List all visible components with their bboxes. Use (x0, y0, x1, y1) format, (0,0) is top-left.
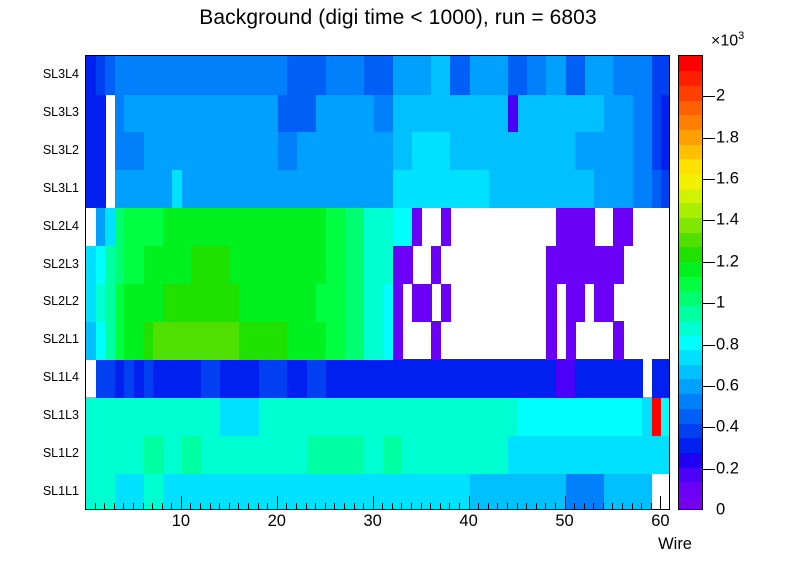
colorbar-tick (703, 303, 715, 304)
x-axis-labels: 102030405060 (0, 512, 796, 534)
heatmap-cell (604, 284, 614, 323)
y-axis-tick-label: SL3L3 (43, 105, 79, 119)
x-axis-tick-label: 10 (172, 512, 190, 531)
x-axis-tick (296, 503, 297, 510)
x-axis-tick (632, 503, 633, 510)
heatmap-cell (566, 321, 576, 360)
colorbar-band (679, 379, 702, 394)
x-axis-tick (181, 496, 182, 510)
colorbar-band (679, 350, 702, 365)
y-axis-tick-label: SL3L2 (43, 143, 79, 157)
heatmap-cell (393, 321, 403, 360)
colorbar-tick-label: 1.8 (716, 128, 739, 147)
y-axis-tick-label: SL2L1 (43, 332, 79, 346)
x-axis-tick (190, 503, 191, 510)
x-axis-tick (200, 503, 201, 510)
heatmap-cell (441, 284, 451, 323)
colorbar-tick (703, 262, 715, 263)
x-axis-tick (123, 503, 124, 510)
y-axis-tick-label: SL3L1 (43, 181, 79, 195)
colorbar-tick (703, 427, 715, 428)
x-axis-tick (401, 503, 402, 510)
x-axis-tick (449, 503, 450, 510)
heatmap-cell (633, 359, 643, 398)
colorbar-band (679, 482, 702, 497)
x-axis-tick (248, 503, 249, 510)
colorbar-ticks (703, 55, 715, 510)
x-axis-tick-label: 50 (555, 512, 573, 531)
x-axis-tick (488, 503, 489, 510)
heatmap-cell (441, 208, 451, 247)
x-axis-tick (497, 503, 498, 510)
x-axis-tick (651, 503, 652, 510)
x-axis-tick (306, 503, 307, 510)
colorbar-tick-label: 0 (716, 501, 725, 520)
x-axis-tick (210, 503, 211, 510)
x-axis-tick (238, 503, 239, 510)
x-axis-tick (162, 503, 163, 510)
x-axis-tick (612, 503, 613, 510)
y-axis-tick-label: SL2L3 (43, 257, 79, 271)
heatmap-cell (546, 284, 556, 323)
x-axis-tick (392, 503, 393, 510)
heatmap-cell (96, 94, 106, 133)
colorbar[interactable] (678, 55, 703, 510)
colorbar-tick (703, 96, 715, 97)
heatmap-cell (661, 435, 670, 474)
y-axis-labels: SL1L1SL1L2SL1L3SL1L4SL2L1SL2L2SL2L3SL2L4… (0, 55, 79, 510)
x-axis-tick (334, 503, 335, 510)
x-axis-tick (373, 496, 374, 510)
x-axis-tick (459, 503, 460, 510)
x-axis-tick (104, 503, 105, 510)
colorbar-band (679, 496, 702, 510)
x-axis-tick (363, 503, 364, 510)
colorbar-band (679, 85, 702, 100)
x-axis-tick (565, 496, 566, 510)
x-axis-ticks (85, 496, 671, 510)
x-axis-tick (526, 503, 527, 510)
colorbar-band (679, 159, 702, 174)
colorbar-tick-label: 0.4 (716, 418, 739, 437)
x-axis-tick (258, 503, 259, 510)
colorbar-tick-labels: 00.20.40.60.811.21.41.61.82 (716, 55, 796, 517)
x-axis-tick (622, 503, 623, 510)
colorbar-band (679, 276, 702, 291)
x-axis-tick-label: 60 (651, 512, 669, 531)
x-axis-tick (229, 503, 230, 510)
heatmap-canvas: Background (digi time < 1000), run = 680… (0, 0, 796, 572)
colorbar-band (679, 56, 702, 71)
x-axis-tick (430, 503, 431, 510)
heatmap-cell (431, 321, 441, 360)
x-axis-tick (593, 503, 594, 510)
colorbar-band (679, 144, 702, 159)
colorbar-band (679, 438, 702, 453)
colorbar-band (679, 452, 702, 467)
x-axis-tick (421, 503, 422, 510)
heatmap-cells (86, 56, 669, 509)
heatmap-cell (661, 359, 670, 398)
x-axis-tick-label: 40 (459, 512, 477, 531)
colorbar-band (679, 71, 702, 86)
x-axis-tick (344, 503, 345, 510)
colorbar-band (679, 320, 702, 335)
colorbar-tick-label: 0.2 (716, 459, 739, 478)
x-axis-tick (584, 503, 585, 510)
heatmap-cell (613, 321, 623, 360)
colorbar-tick-label: 0.6 (716, 376, 739, 395)
x-axis-tick (286, 503, 287, 510)
colorbar-tick (703, 179, 715, 180)
colorbar-band (679, 100, 702, 115)
colorbar-tick-label: 1.2 (716, 252, 739, 271)
x-axis-tick (574, 503, 575, 510)
x-axis-tick (660, 496, 661, 510)
colorbar-band (679, 467, 702, 482)
x-axis-tick (114, 503, 115, 510)
colorbar-tick (703, 386, 715, 387)
heatmap-cell (412, 208, 422, 247)
colorbar-band (679, 115, 702, 130)
colorbar-band (679, 129, 702, 144)
y-axis-tick-label: SL1L2 (43, 446, 79, 460)
x-axis-tick (267, 503, 268, 510)
x-axis-tick (95, 503, 96, 510)
colorbar-band (679, 364, 702, 379)
colorbar-tick-label: 2 (716, 87, 725, 106)
heatmap-cell (661, 94, 670, 133)
heatmap-plot-area[interactable] (85, 55, 670, 510)
heatmap-cell (431, 246, 441, 285)
x-axis-tick (354, 503, 355, 510)
colorbar-tick (703, 138, 715, 139)
x-axis-tick (171, 503, 172, 510)
y-axis-tick-label: SL1L1 (43, 484, 79, 498)
x-axis-title: Wire (0, 535, 692, 554)
colorbar-tick-label: 1.6 (716, 170, 739, 189)
y-axis-tick-label: SL1L3 (43, 408, 79, 422)
x-axis-tick (603, 503, 604, 510)
x-axis-tick (315, 503, 316, 510)
heatmap-cell (96, 170, 106, 209)
heatmap-cell (661, 397, 670, 436)
x-axis-tick (152, 503, 153, 510)
heatmap-cell (623, 208, 633, 247)
heatmap-cell (661, 132, 670, 171)
x-axis-tick-label: 20 (268, 512, 286, 531)
colorbar-tick (703, 345, 715, 346)
x-axis-tick (411, 503, 412, 510)
x-axis-tick (469, 496, 470, 510)
heatmap-cell (661, 170, 670, 209)
x-axis-tick (325, 503, 326, 510)
heatmap-cell (96, 132, 106, 171)
x-axis-tick (478, 503, 479, 510)
colorbar-band (679, 217, 702, 232)
y-axis-tick-label: SL2L2 (43, 294, 79, 308)
y-axis-tick-label: SL1L4 (43, 370, 79, 384)
y-axis-tick-label: SL2L4 (43, 219, 79, 233)
x-axis-tick-label: 30 (364, 512, 382, 531)
x-axis-tick (143, 503, 144, 510)
colorbar-band (679, 203, 702, 218)
colorbar-band (679, 173, 702, 188)
colorbar-band (679, 423, 702, 438)
colorbar-band (679, 247, 702, 262)
x-axis-tick (517, 503, 518, 510)
heatmap-cell (613, 246, 623, 285)
colorbar-band (679, 188, 702, 203)
x-axis-tick (545, 503, 546, 510)
x-axis-tick (641, 503, 642, 510)
colorbar-band (679, 261, 702, 276)
x-axis-tick (555, 503, 556, 510)
colorbar-band (679, 335, 702, 350)
colorbar-tick-label: 0.8 (716, 335, 739, 354)
heatmap-cell (575, 284, 585, 323)
page-title: Background (digi time < 1000), run = 680… (0, 6, 796, 30)
heatmap-cell (422, 284, 432, 323)
colorbar-band (679, 291, 702, 306)
colorbar-band (679, 408, 702, 423)
colorbar-tick-label: 1.4 (716, 211, 739, 230)
colorbar-band (679, 394, 702, 409)
heatmap-cell (402, 246, 412, 285)
heatmap-cell (661, 56, 670, 95)
y-axis-tick-label: SL3L4 (43, 67, 79, 81)
heatmap-cell (585, 208, 595, 247)
colorbar-exponent-label: ×103 (711, 30, 744, 50)
colorbar-band (679, 232, 702, 247)
colorbar-tick (703, 220, 715, 221)
x-axis-tick (133, 503, 134, 510)
x-axis-tick (440, 503, 441, 510)
x-axis-tick (536, 503, 537, 510)
x-axis-tick (277, 496, 278, 510)
colorbar-band (679, 306, 702, 321)
heatmap-cell (393, 284, 403, 323)
heatmap-cell (546, 321, 556, 360)
colorbar-tick (703, 469, 715, 470)
colorbar-tick-label: 1 (716, 294, 725, 313)
x-axis-tick (507, 503, 508, 510)
x-axis-tick (382, 503, 383, 510)
x-axis-tick (219, 503, 220, 510)
